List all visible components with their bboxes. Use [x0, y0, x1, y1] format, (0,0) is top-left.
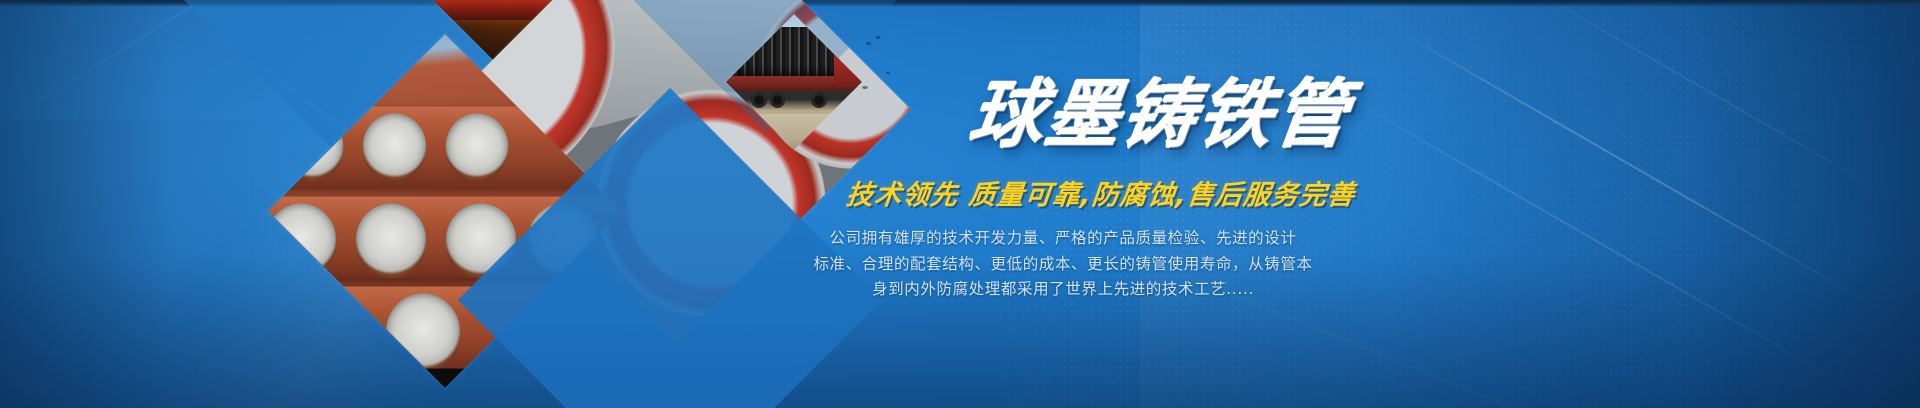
description-line: 公司拥有雄厚的技术开发力量、严格的产品质量检验、先进的设计 [676, 226, 1450, 251]
background-speck [886, 72, 890, 74]
description-line: 标准、合理的配套结构、更低的成本、更长的铸管使用寿命，从铸管本 [676, 252, 1450, 277]
product-hero-banner: 球墨铸铁管 技术领先 质量可靠,防腐蚀,售后服务完善 公司拥有雄厚的技术开发力量… [0, 0, 1920, 408]
tagline: 技术领先 质量可靠,防腐蚀,售后服务完善 [658, 173, 1452, 212]
background-speck [866, 42, 871, 45]
description-paragraph: 公司拥有雄厚的技术开发力量、严格的产品质量检验、先进的设计 标准、合理的配套结构… [660, 226, 1450, 301]
background-speck [876, 36, 880, 39]
description-line: 身到内外防腐处理都采用了世界上先进的技术工艺..... [676, 277, 1450, 302]
page-title: 球墨铸铁管 [655, 78, 1454, 153]
hero-text-block: 球墨铸铁管 技术领先 质量可靠,防腐蚀,售后服务完善 公司拥有雄厚的技术开发力量… [660, 78, 1450, 302]
